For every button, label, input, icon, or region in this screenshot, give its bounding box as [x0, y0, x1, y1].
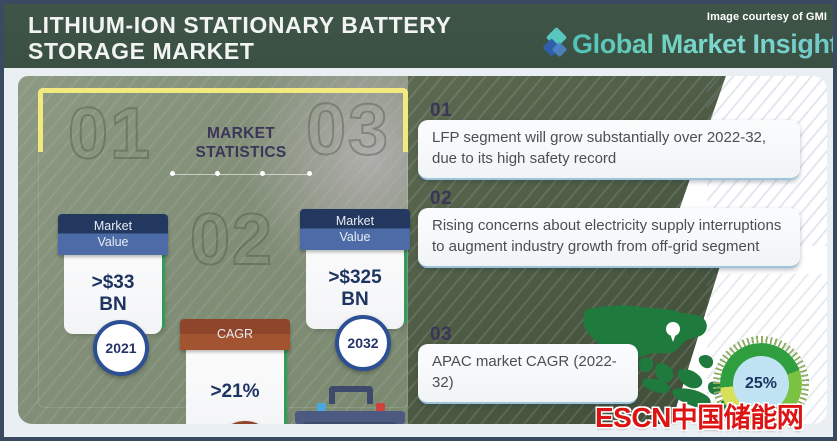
ghost-number-02: 02	[190, 204, 274, 276]
insight-card-03[interactable]: APAC market CAGR (2022-32)	[418, 344, 638, 404]
insight-number-03: 03	[430, 324, 452, 346]
content-stage: 01 02 03 MARKET STATISTICS Market	[4, 68, 837, 441]
market-statistics-title-line2: STATISTICS	[176, 143, 306, 162]
page-title: LITHIUM-ION STATIONARY BATTERY STORAGE M…	[28, 12, 528, 64]
car-battery-icon: − +	[295, 386, 405, 424]
watermark-cjk: 中国储能网	[671, 403, 804, 434]
insight-number-01: 01	[430, 100, 452, 122]
stat-card-01-label-line2: Value	[58, 234, 168, 250]
decorative-dot-rule	[170, 171, 312, 177]
stat-card-03-year-badge: 2032	[335, 315, 391, 371]
stat-card-02-label-line1: CAGR	[180, 326, 290, 342]
stat-card-01-value-line2: BN	[64, 294, 162, 316]
watermark-latin: ESCN	[595, 402, 671, 433]
brand-logo: Image courtesy of GMI Global Market Insi…	[531, 10, 831, 64]
logo-wordmark: Global Market Insights	[572, 29, 837, 60]
ghost-number-01: 01	[68, 98, 152, 170]
stat-card-01-year-badge: 2021	[93, 320, 149, 376]
logo-lockup: Global Market Insights	[545, 29, 837, 60]
stat-card-02-value: >21%	[186, 381, 284, 403]
market-statistics-title: MARKET STATISTICS	[176, 124, 306, 162]
stat-card-03-label-line1: Market	[300, 213, 410, 229]
stat-card-01-label-line1: Market	[58, 218, 168, 234]
insight-card-01[interactable]: LFP segment will grow substantially over…	[418, 120, 800, 180]
stat-card-03-value: >$325 BN	[306, 267, 404, 311]
image-courtesy-label: Image courtesy of GMI	[707, 11, 827, 23]
diamond-logo-icon	[545, 30, 567, 60]
stat-card-03-value-line1: >$325	[306, 267, 404, 289]
stat-card-02-label: CAGR	[180, 319, 290, 350]
stat-card-01-label: Market Value	[58, 214, 168, 255]
insight-number-02: 02	[430, 188, 452, 210]
stat-card-02-value-line1: >21%	[186, 381, 284, 403]
ghost-number-03: 03	[306, 94, 390, 166]
insights-panel: 01 LFP segment will grow substantially o…	[408, 76, 827, 424]
stat-card-03-label: Market Value	[300, 209, 410, 250]
header-bar: LITHIUM-ION STATIONARY BATTERY STORAGE M…	[4, 4, 837, 68]
stat-card-03-label-line2: Value	[300, 229, 410, 245]
infographic-root: LITHIUM-ION STATIONARY BATTERY STORAGE M…	[0, 0, 837, 441]
insight-card-02[interactable]: Rising concerns about electricity supply…	[418, 208, 800, 268]
stat-card-01-value-line1: >$33	[64, 272, 162, 294]
market-statistics-panel: 01 02 03 MARKET STATISTICS Market	[18, 76, 422, 424]
escn-watermark: ESCN中国储能网	[595, 396, 803, 435]
stat-card-03-value-line2: BN	[306, 289, 404, 311]
stat-card-01-value: >$33 BN	[64, 272, 162, 316]
market-statistics-title-line1: MARKET	[176, 124, 306, 143]
location-pin-icon	[666, 322, 680, 342]
